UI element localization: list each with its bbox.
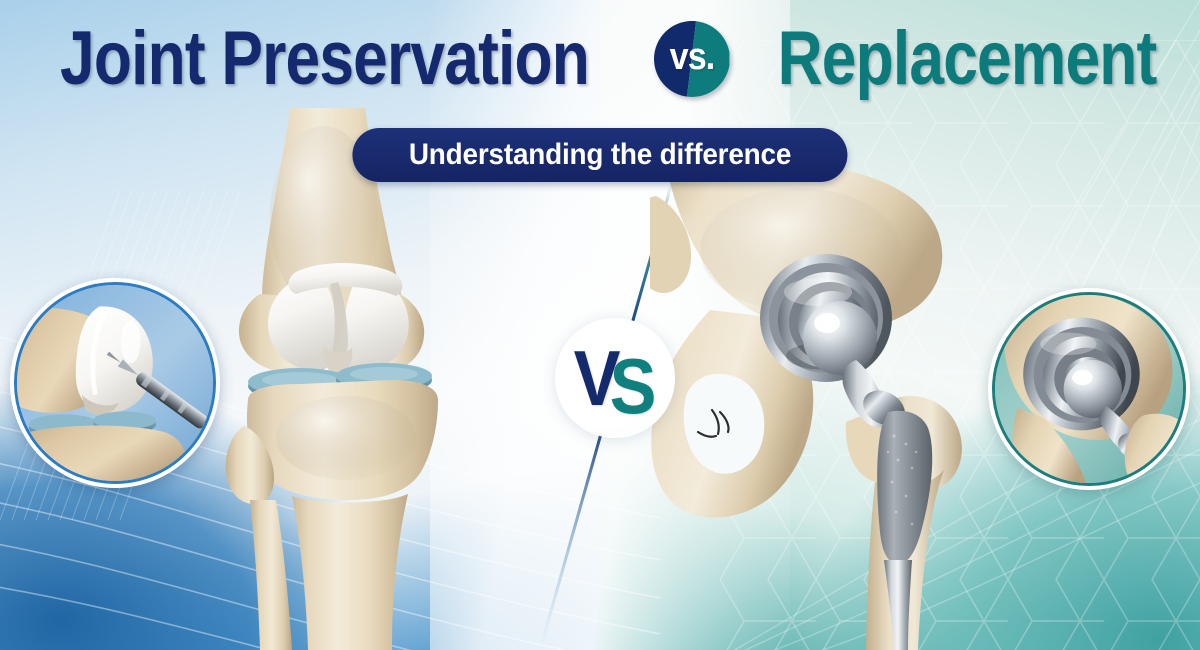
banner-title: Joint Preservation vs. Replacement [0, 17, 1200, 101]
inset-right-ring [992, 292, 1186, 486]
title-part-preservation: Joint Preservation [60, 17, 589, 101]
hip-implant-closeup-image [995, 295, 1183, 483]
vs-badge-circle: vs. [654, 21, 730, 97]
center-vs-letter-s: S [610, 347, 657, 425]
inset-left-ring [14, 282, 216, 484]
hip-implant-closeup-inset [988, 288, 1190, 490]
knee-cartilage-repair-closeup-inset [10, 278, 220, 488]
knee-joint-anatomy-illustration [196, 108, 476, 650]
vs-badge-label: vs. [657, 21, 725, 97]
subtitle-pill: Understanding the difference [352, 128, 847, 182]
joint-preservation-vs-replacement-banner: Joint Preservation vs. Replacement Under… [0, 0, 1200, 650]
hip-replacement-implant-illustration [650, 160, 1010, 650]
subtitle-text: Understanding the difference [409, 138, 791, 172]
title-part-replacement: Replacement [777, 17, 1156, 101]
center-vs-circle: V S [555, 318, 675, 438]
knee-cartilage-repair-closeup-image [17, 285, 213, 481]
